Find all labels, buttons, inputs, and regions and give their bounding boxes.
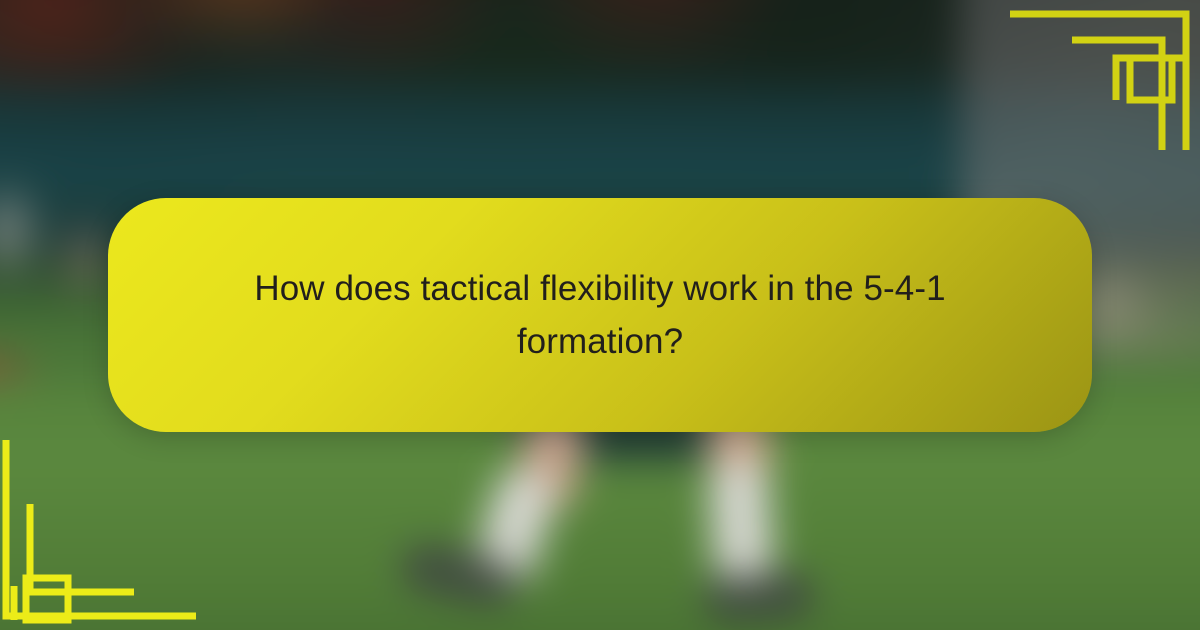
question-text: How does tactical flexibility work in th… — [200, 262, 1000, 368]
question-card[interactable]: How does tactical flexibility work in th… — [108, 198, 1092, 432]
poster-stage: How does tactical flexibility work in th… — [0, 0, 1200, 630]
